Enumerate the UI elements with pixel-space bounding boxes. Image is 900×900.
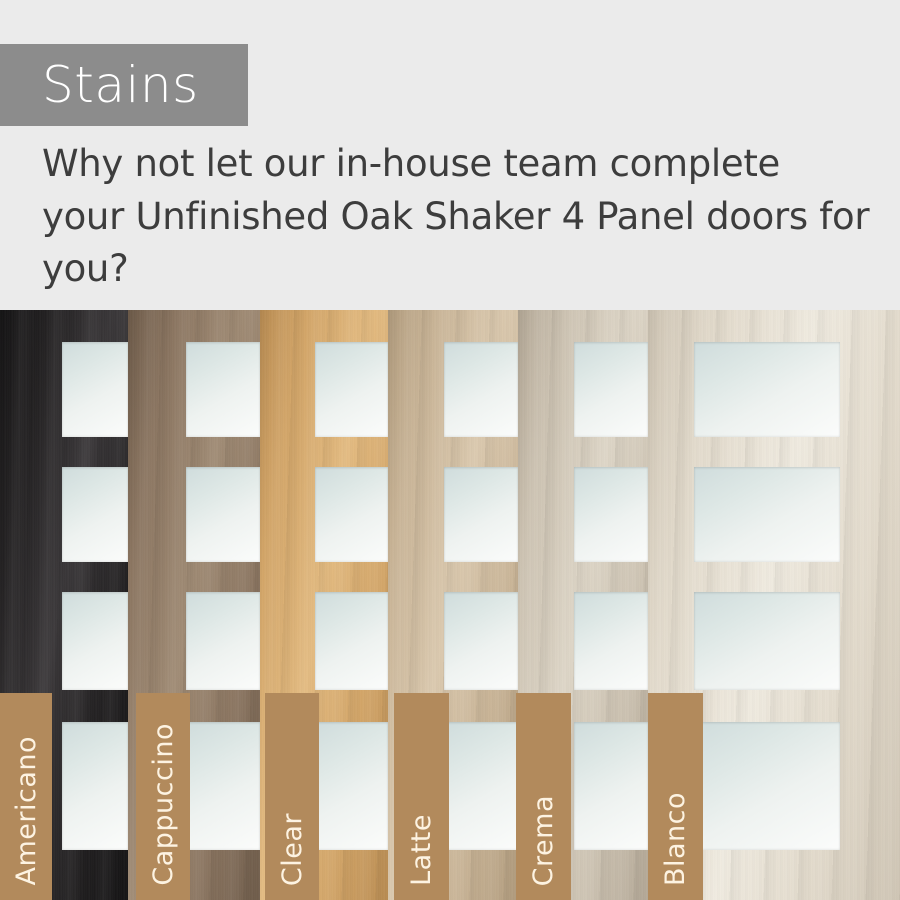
glass-pane	[694, 342, 840, 437]
glass-pane	[574, 592, 648, 690]
stains-promo-image: Stains Why not let our in-house team com…	[0, 0, 900, 900]
door-samples-strip: AmericanoCappuccinoClearLatteCremaBlanco	[0, 310, 900, 900]
stain-label-text: Cappuccino	[148, 723, 179, 886]
glass-pane	[62, 342, 128, 437]
glass-pane	[315, 592, 388, 690]
glass-pane	[62, 722, 128, 850]
stain-label-latte: Latte	[394, 693, 449, 900]
glass-pane	[315, 467, 388, 562]
glass-pane	[574, 722, 648, 850]
glass-pane	[444, 592, 518, 690]
stain-label-text: Blanco	[660, 792, 691, 886]
glass-pane	[62, 467, 128, 562]
subtitle-text: Why not let our in-house team complete y…	[42, 138, 872, 296]
glass-pane	[315, 722, 388, 850]
stain-label-blanco: Blanco	[648, 693, 703, 900]
title-badge: Stains	[0, 44, 248, 126]
glass-pane	[694, 592, 840, 690]
glass-pane	[574, 467, 648, 562]
glass-pane	[694, 467, 840, 562]
stain-label-text: Latte	[406, 814, 437, 886]
glass-pane	[444, 722, 518, 850]
glass-pane	[186, 592, 260, 690]
glass-pane	[315, 342, 388, 437]
stain-label-americano: Americano	[0, 693, 52, 900]
glass-pane	[62, 592, 128, 690]
glass-pane	[444, 342, 518, 437]
stain-label-crema: Crema	[516, 693, 571, 900]
glass-pane	[186, 467, 260, 562]
stain-label-clear: Clear	[265, 693, 319, 900]
glass-pane	[574, 342, 648, 437]
stain-label-text: Americano	[11, 736, 42, 886]
stain-label-cappuccino: Cappuccino	[136, 693, 190, 900]
glass-pane	[444, 467, 518, 562]
glass-pane	[186, 342, 260, 437]
glass-pane	[186, 722, 260, 850]
stain-label-text: Clear	[277, 813, 308, 886]
page-title: Stains	[0, 60, 199, 110]
glass-pane	[694, 722, 840, 850]
stain-label-text: Crema	[528, 795, 559, 886]
header-panel: Stains Why not let our in-house team com…	[0, 0, 900, 310]
